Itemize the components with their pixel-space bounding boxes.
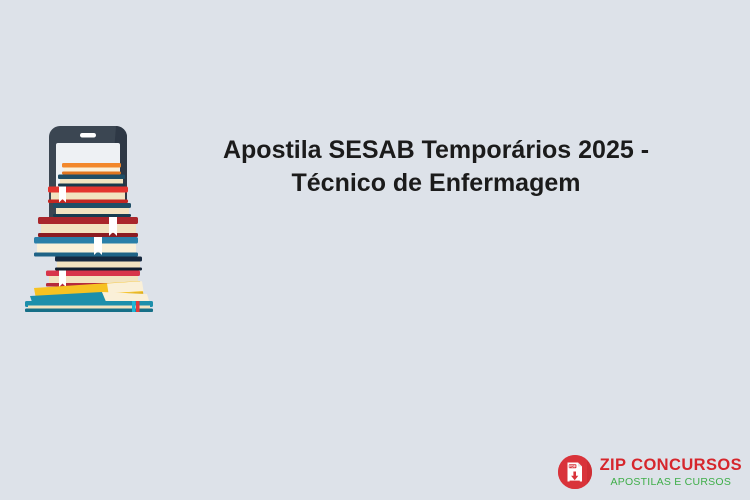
stack-of-books-on-tablet-illustration bbox=[12, 122, 172, 312]
book-teal-1 bbox=[34, 237, 138, 257]
page-title-block: Apostila SESAB Temporários 2025 - Técnic… bbox=[176, 134, 696, 200]
brand-logo[interactable]: PDF ZIP CONCURSOS APOSTILAS E CURSOS bbox=[557, 454, 742, 490]
pdf-download-badge-icon: PDF bbox=[557, 454, 593, 490]
brand-name: ZIP CONCURSOS bbox=[600, 457, 742, 474]
book-navy-2 bbox=[53, 203, 131, 217]
book-orange-top bbox=[62, 163, 121, 175]
brand-tagline: APOSTILAS E CURSOS bbox=[610, 477, 731, 488]
book-navy-1 bbox=[58, 175, 125, 187]
page-title: Apostila SESAB Temporários 2025 - Técnic… bbox=[176, 134, 696, 200]
book-red-1 bbox=[48, 187, 128, 204]
book-darknavy bbox=[55, 257, 142, 271]
product-banner: Apostila SESAB Temporários 2025 - Técnic… bbox=[0, 0, 750, 500]
svg-text:PDF: PDF bbox=[569, 465, 576, 469]
book-base bbox=[25, 301, 153, 312]
brand-wordmark: ZIP CONCURSOS APOSTILAS E CURSOS bbox=[600, 457, 742, 487]
book-darkred bbox=[38, 217, 138, 237]
